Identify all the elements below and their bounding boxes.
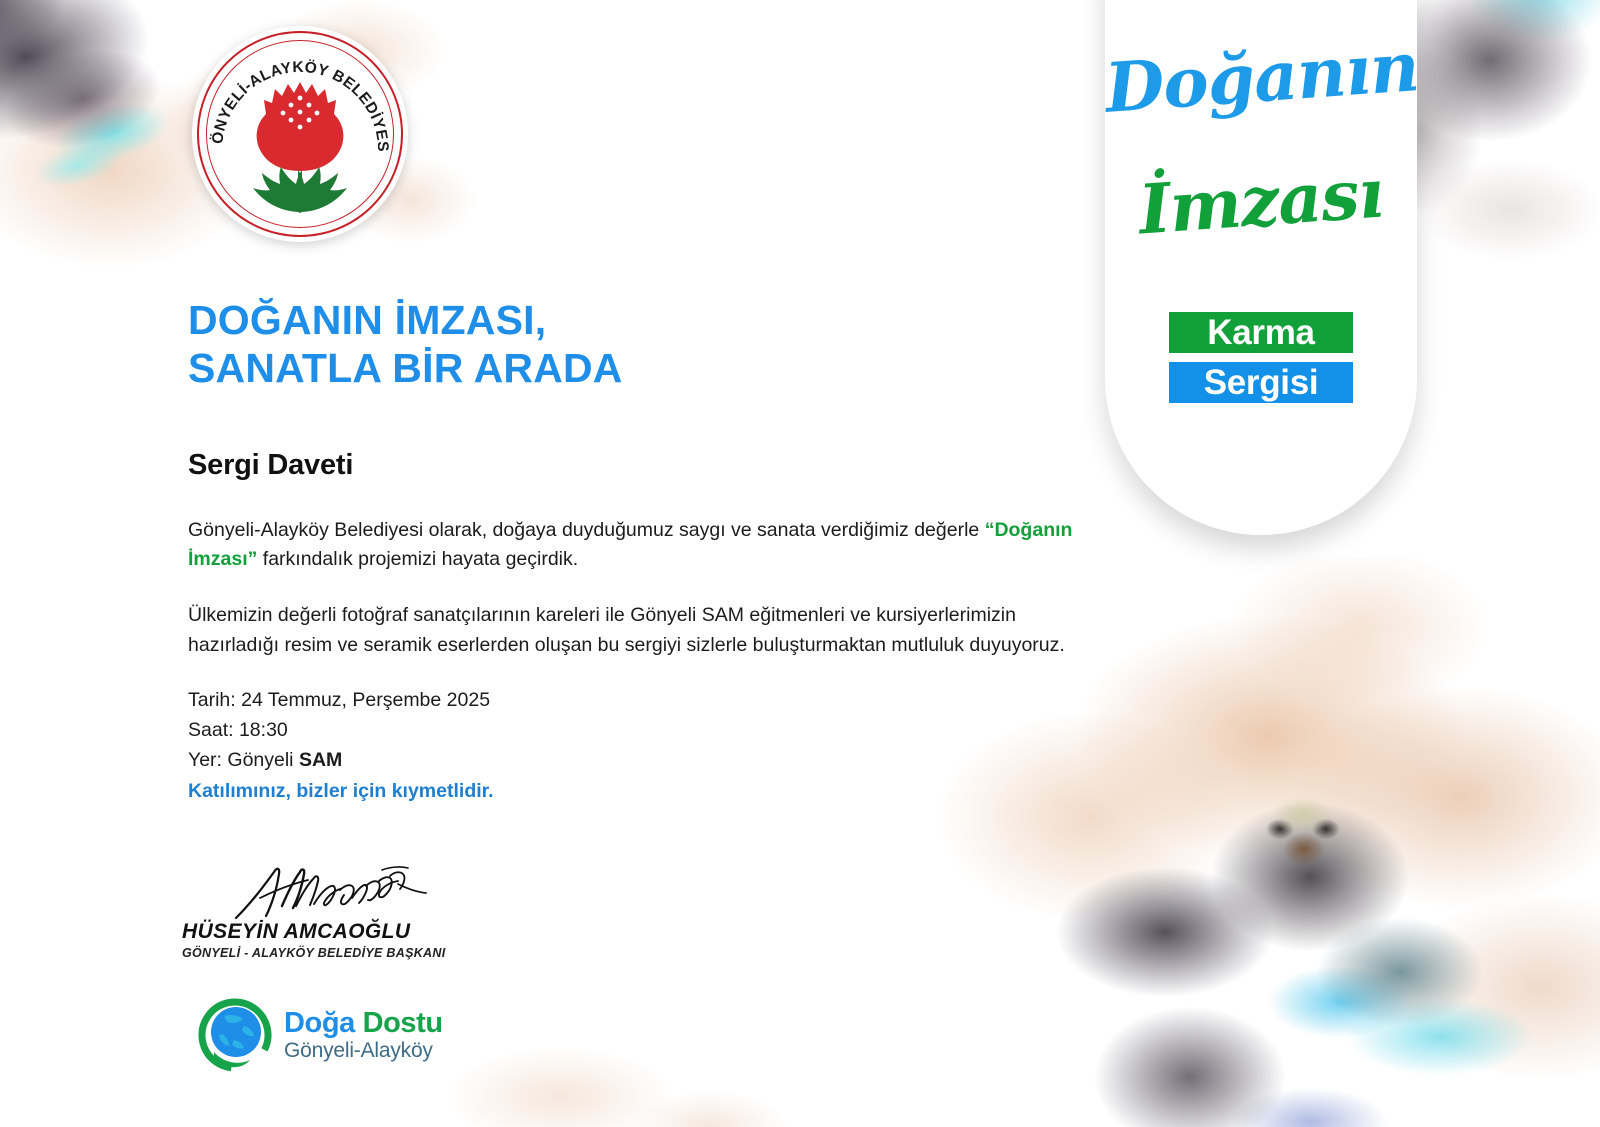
invitation-poster: GÖNYELİ-ALAYKÖY BELEDİYESİ Doğanın İmzas… <box>0 0 1600 1127</box>
doga-dostu-wordmark: Doğa Dostu Gönyeli-Alayköy <box>284 1009 443 1061</box>
doga-dostu-logo: Doğa Dostu Gönyeli-Alayköy <box>196 996 443 1074</box>
signer-title: GÖNYELİ - ALAYKÖY BELEDİYE BAŞKANI <box>182 946 612 960</box>
eco-word-doga: Doğa <box>284 1007 355 1039</box>
signer-name: HÜSEYİN AMCAOĞLU <box>182 920 612 944</box>
exhibition-badge: Doğanın İmzası Karma Sergisi <box>1105 0 1417 535</box>
badge-chip-sergisi: Sergisi <box>1169 362 1353 403</box>
watercolor-roller-bird <box>1010 757 1570 1127</box>
invitation-content: DOĞANIN İMZASI, SANATLA BİR ARADA Sergi … <box>188 296 1078 807</box>
event-details: Tarih: 24 Temmuz, Perşembe 2025 Saat: 18… <box>188 686 1078 807</box>
signature-block: HÜSEYİN AMCAOĞLU GÖNYELİ - ALAYKÖY BELED… <box>182 862 612 960</box>
paragraph-one: Gönyeli-Alayköy Belediyesi olarak, doğay… <box>188 516 1078 575</box>
badge-script-imzasi: İmzası <box>1103 151 1420 253</box>
event-place-row: Yer: Gönyeli SAM <box>188 746 1078 776</box>
event-date-value: 24 Temmuz, Perşembe 2025 <box>236 689 490 711</box>
badge-script-doganin: Doğanın <box>1103 27 1420 129</box>
event-place-value: Gönyeli <box>222 749 299 771</box>
watercolor-splash-bottomleft <box>380 947 800 1127</box>
paragraph-one-tail: farkındalık projemizi hayata geçirdik. <box>257 548 578 570</box>
page-title: DOĞANIN İMZASI, SANATLA BİR ARADA <box>188 296 1078 393</box>
globe-leaf-icon <box>196 996 274 1074</box>
event-place-label: Yer: <box>188 749 222 771</box>
paragraph-one-lead: Gönyeli-Alayköy Belediyesi olarak, doğay… <box>188 519 985 541</box>
event-time-row: Saat: 18:30 <box>188 716 1078 746</box>
event-date-label: Tarih: <box>188 689 236 711</box>
laurel-wreath-icon <box>225 160 375 218</box>
eco-logo-subline: Gönyeli-Alayköy <box>284 1040 443 1061</box>
closing-line: Katılımınız, bizler için kıymetlidir. <box>188 777 1078 807</box>
eco-word-dostu: Dostu <box>355 1007 443 1039</box>
event-time-value: 18:30 <box>234 719 288 741</box>
bird-head <box>1240 787 1370 882</box>
paragraph-two: Ülkemizin değerli fotoğraf sanatçılarını… <box>188 601 1078 660</box>
invitation-subtitle: Sergi Daveti <box>188 449 1078 482</box>
eco-logo-line1: Doğa Dostu <box>284 1009 443 1038</box>
event-date-row: Tarih: 24 Temmuz, Perşembe 2025 <box>188 686 1078 716</box>
event-place-venue: SAM <box>299 749 342 771</box>
badge-chip-karma: Karma <box>1169 312 1353 353</box>
municipality-seal-logo: GÖNYELİ-ALAYKÖY BELEDİYESİ <box>192 26 408 242</box>
event-time-label: Saat: <box>188 719 234 741</box>
handwritten-signature-icon <box>230 862 450 924</box>
